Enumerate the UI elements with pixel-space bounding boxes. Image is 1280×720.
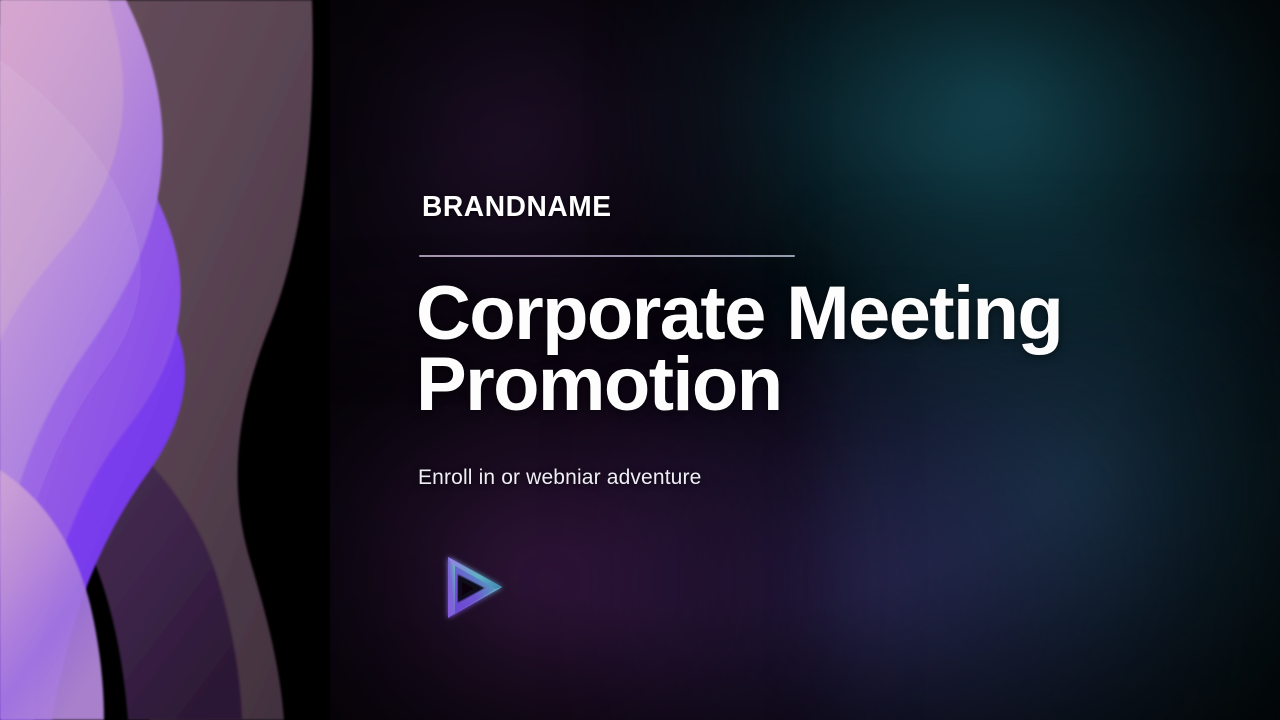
brand-name: BRANDNAME bbox=[422, 191, 612, 224]
brand-divider-rule bbox=[419, 255, 795, 257]
play-triangle-icon bbox=[430, 544, 516, 630]
headline-line-2: Promotion bbox=[416, 342, 782, 427]
page-title: Corporate Meeting Promotion bbox=[416, 278, 1196, 420]
slide-content: BRANDNAME Corporate Meeting Promotion En… bbox=[416, 0, 1216, 720]
abstract-purple-ribbon-artwork bbox=[0, 0, 330, 720]
subtitle-text: Enroll in or webniar adventure bbox=[418, 466, 702, 490]
promo-slide: BRANDNAME Corporate Meeting Promotion En… bbox=[0, 0, 1280, 720]
play-button[interactable] bbox=[430, 544, 516, 630]
